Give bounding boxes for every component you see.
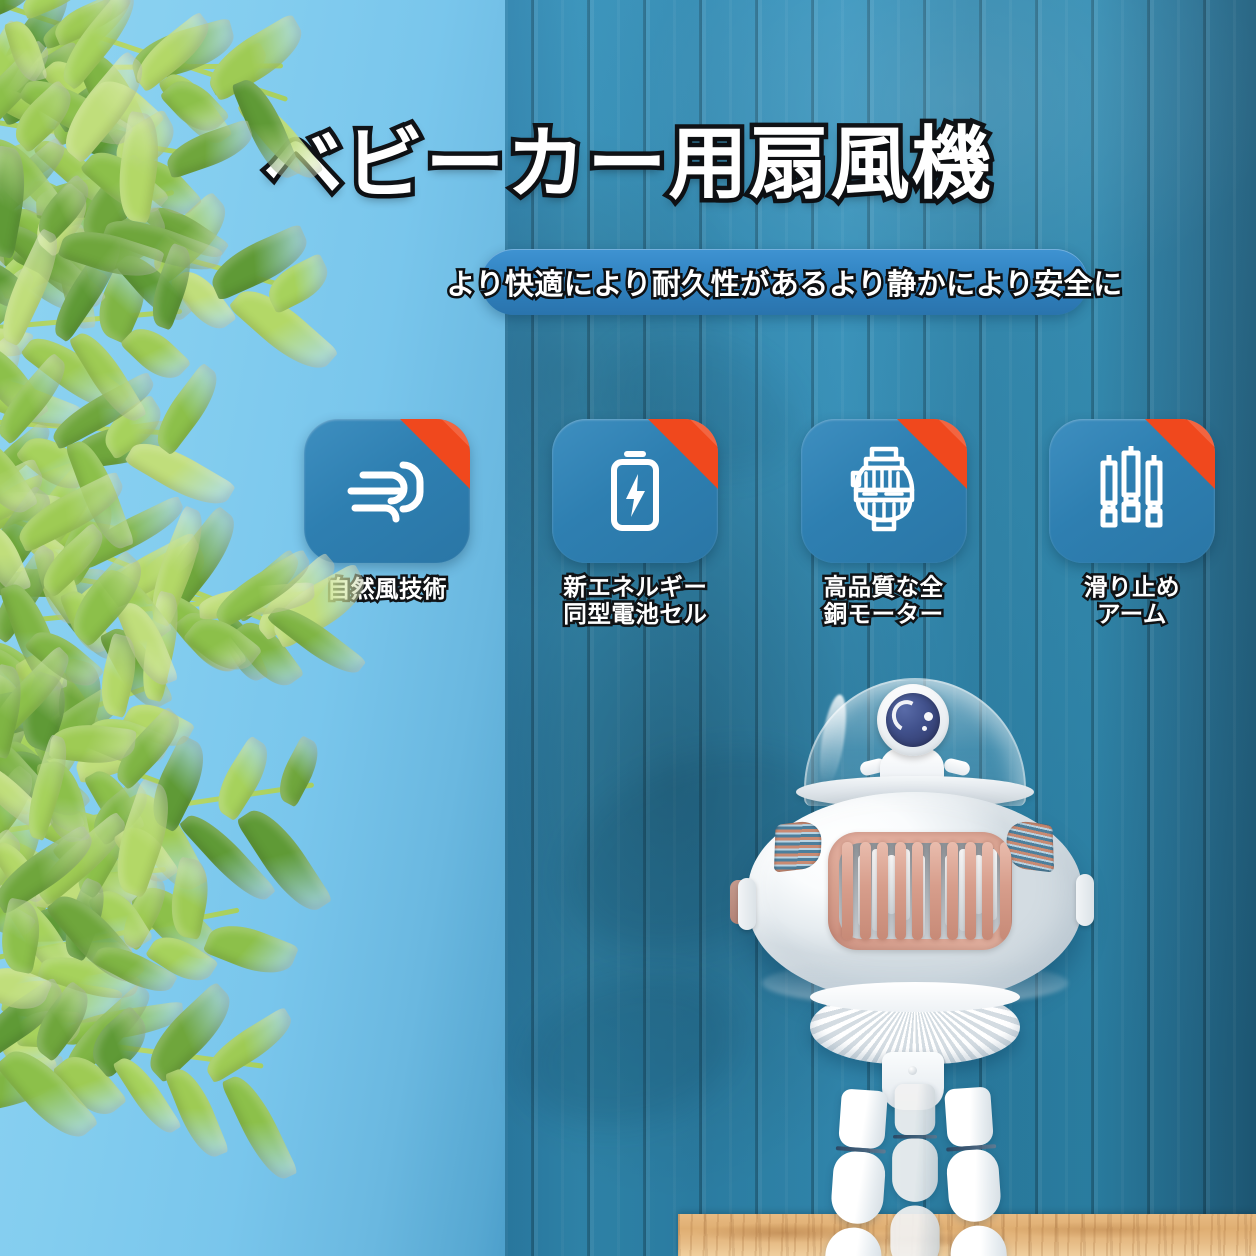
feature-label: 新エネルギー 同型電池セル xyxy=(563,574,707,629)
leg-segment xyxy=(838,1088,888,1149)
feature-item-grip-arm[interactable]: 滑り止め アーム xyxy=(1032,419,1232,629)
grille-slat xyxy=(1000,842,1011,940)
grille-slat xyxy=(842,842,853,940)
feature-tile[interactable] xyxy=(552,419,718,563)
page-title: ベビーカー用扇風機 xyxy=(0,125,1256,204)
feature-label: 自然風技術 xyxy=(327,576,447,603)
leg-segment xyxy=(949,1224,1010,1256)
leg-segment xyxy=(945,1148,1002,1223)
product-image xyxy=(700,660,1130,1256)
side-knob-left xyxy=(738,878,756,930)
fan-grille xyxy=(828,832,1012,950)
grille-slat xyxy=(912,842,923,940)
feature-item-battery[interactable]: 新エネルギー 同型電池セル xyxy=(535,419,735,629)
feature-tile[interactable] xyxy=(304,419,470,563)
leg-segment xyxy=(892,1139,938,1202)
visor-dot xyxy=(922,726,927,731)
grille-slat xyxy=(947,842,958,940)
leg-segment xyxy=(944,1086,994,1147)
product-banner: ベビーカー用扇風機 より快適により耐久性があるより静かにより安全に xyxy=(0,0,1256,1256)
subtitle-banner: より快適により耐久性があるより静かにより安全に xyxy=(481,249,1088,315)
feature-tile[interactable] xyxy=(1049,419,1215,563)
grille-slat xyxy=(982,842,993,940)
tripod-arm-icon xyxy=(1089,445,1175,537)
feature-label: 高品質な全 銅モーター xyxy=(824,574,944,629)
grille-slat xyxy=(930,842,941,940)
leg-segment xyxy=(830,1150,887,1225)
leg-segment xyxy=(822,1226,883,1256)
feature-tile[interactable] xyxy=(801,419,967,563)
motor-icon xyxy=(842,443,926,539)
wind-icon xyxy=(341,453,433,529)
leg-segment xyxy=(890,1205,939,1256)
side-knob-right xyxy=(1076,874,1094,926)
intake-cap xyxy=(810,982,1020,1012)
battery-icon xyxy=(596,445,674,537)
feature-item-motor[interactable]: 高品質な全 銅モーター xyxy=(784,419,984,629)
visor-dot xyxy=(924,712,933,721)
feature-list: 自然風技術 新エネルギー 同型電池セル xyxy=(287,419,1232,659)
neck-screw xyxy=(908,1066,917,1075)
tripod-leg-right xyxy=(944,1086,990,1089)
grille-slat xyxy=(965,842,976,940)
feature-label: 滑り止め アーム xyxy=(1084,574,1180,629)
feature-item-natural-wind[interactable]: 自然風技術 xyxy=(287,419,487,603)
grille-slat xyxy=(877,842,888,940)
leg-segment xyxy=(895,1084,935,1135)
subtitle-text: より快適により耐久性があるより静かにより安全に xyxy=(446,261,1122,303)
grille-slat xyxy=(860,842,871,940)
grille-slat xyxy=(895,842,906,940)
